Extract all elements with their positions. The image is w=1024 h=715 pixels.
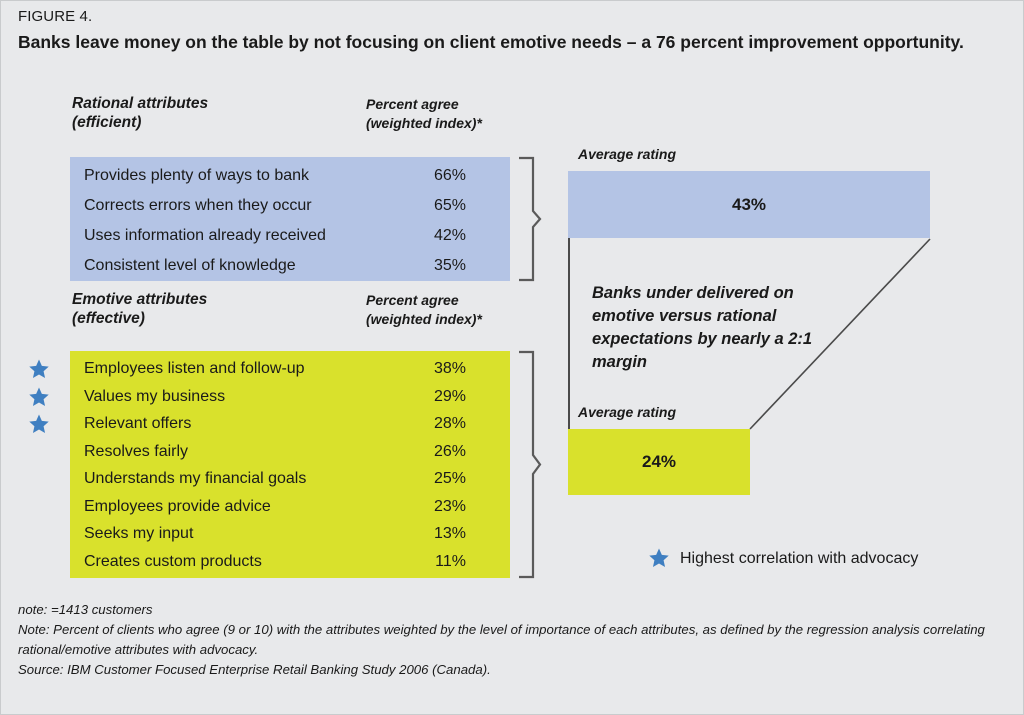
callout-text: Banks under delivered on emotive versus … — [592, 282, 822, 374]
note-methodology: Note: Percent of clients who agree (9 or… — [18, 620, 1008, 660]
emotive-average-caption: Average rating — [578, 404, 676, 420]
figure-notes: note: =1413 customers Note: Percent of c… — [18, 600, 1008, 680]
note-source: Source: IBM Customer Focused Enterprise … — [18, 660, 1008, 680]
note-sample-size: note: =1413 customers — [18, 600, 1008, 620]
emotive-average-value: 24% — [642, 452, 676, 472]
star-icon — [648, 547, 672, 571]
emotive-average-bar: 24% — [568, 429, 750, 495]
legend-label: Highest correlation with advocacy — [680, 550, 918, 568]
legend: Highest correlation with advocacy — [648, 547, 918, 571]
